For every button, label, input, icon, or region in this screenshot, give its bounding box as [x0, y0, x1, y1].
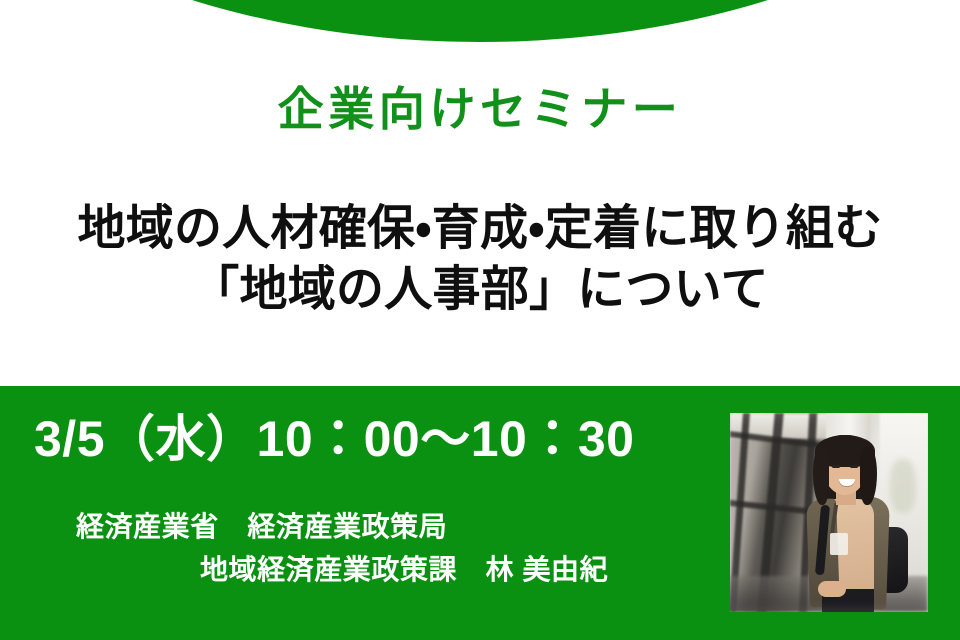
person-figure [788, 429, 908, 612]
name-badge [830, 533, 848, 555]
page-title: 地域の人材確保・育成・定着に取り組む 「地域の人事部」について [0, 198, 960, 321]
headline-line-1: 地域の人材確保・育成・定着に取り組む [0, 198, 960, 259]
hands [818, 581, 846, 597]
headline-line-2: 「地域の人事部」について [0, 259, 960, 320]
speaker-affiliation: 経済産業省 経済産業政策局 地域経済産業政策課 林 美由紀 [0, 505, 720, 592]
photo-scene [730, 413, 928, 612]
speaker-photo [730, 413, 928, 612]
hair-side-left [813, 447, 829, 505]
datetime-text: 3/5（水）10：00〜10：30 [34, 412, 634, 467]
affiliation-line-1: 経済産業省 経済産業政策局 [0, 505, 720, 548]
eye-left [832, 465, 840, 468]
seminar-banner: 企業向けセミナー 地域の人材確保・育成・定着に取り組む 「地域の人事部」について… [0, 0, 960, 640]
kicker-text: 企業向けセミナー [0, 82, 960, 136]
eye-right [850, 465, 858, 468]
affiliation-line-2: 地域経済産業政策課 林 美由紀 [0, 548, 720, 591]
top-green-arc-decoration [0, 0, 960, 42]
